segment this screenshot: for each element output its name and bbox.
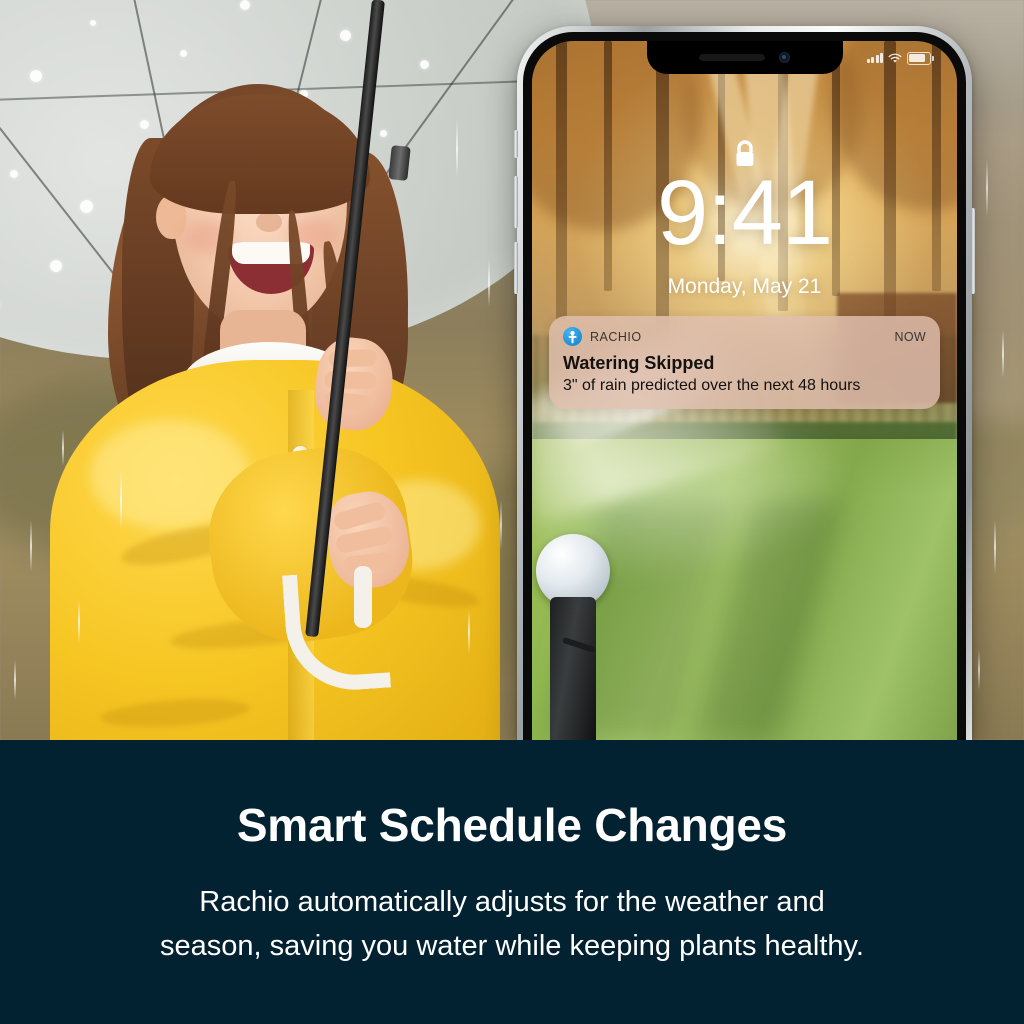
product-feature-card: 9:41 Monday, May 21 [0, 0, 1024, 1024]
volume-up-button[interactable] [514, 176, 518, 228]
volume-down-button[interactable] [514, 242, 518, 294]
subcopy: Rachio automatically adjusts for the wea… [160, 880, 864, 968]
notification-body: 3" of rain predicted over the next 48 ho… [563, 377, 926, 395]
phone-screen[interactable]: 9:41 Monday, May 21 [532, 41, 957, 740]
notification-header: RACHIO NOW [563, 327, 926, 346]
subcopy-line-2: season, saving you water while keeping p… [160, 924, 864, 968]
battery-icon [907, 52, 931, 65]
lockscreen-date: Monday, May 21 [532, 275, 957, 299]
phone-device: 9:41 Monday, May 21 [517, 26, 972, 740]
silent-switch[interactable] [514, 130, 518, 158]
phone-bezel: 9:41 Monday, May 21 [523, 32, 966, 740]
child-figure [60, 60, 490, 740]
power-button[interactable] [971, 208, 975, 294]
rachio-app-icon [563, 327, 582, 346]
sprinkler-post [550, 597, 596, 740]
hair-front [150, 94, 370, 214]
cellular-signal-icon [867, 53, 884, 63]
notification-card[interactable]: RACHIO NOW Watering Skipped 3" of rain p… [549, 316, 940, 409]
lockscreen-time: 9:41 [532, 167, 957, 259]
caption-panel: Smart Schedule Changes Rachio automatica… [0, 740, 1024, 1024]
wifi-icon [888, 53, 902, 64]
hero-photo: 9:41 Monday, May 21 [0, 0, 1024, 740]
phone-notch [647, 41, 843, 74]
notification-app-name: RACHIO [590, 330, 887, 344]
umbrella-pole-joint [388, 145, 410, 181]
headline: Smart Schedule Changes [237, 798, 787, 852]
subcopy-line-1: Rachio automatically adjusts for the wea… [160, 880, 864, 924]
nose [256, 212, 282, 232]
status-bar-right [867, 52, 932, 65]
notification-timestamp: NOW [895, 330, 926, 344]
front-camera-icon [779, 52, 790, 63]
earpiece-speaker-icon [699, 54, 765, 61]
umbrella-handle-stem [354, 566, 372, 628]
notification-title: Watering Skipped [563, 353, 926, 374]
